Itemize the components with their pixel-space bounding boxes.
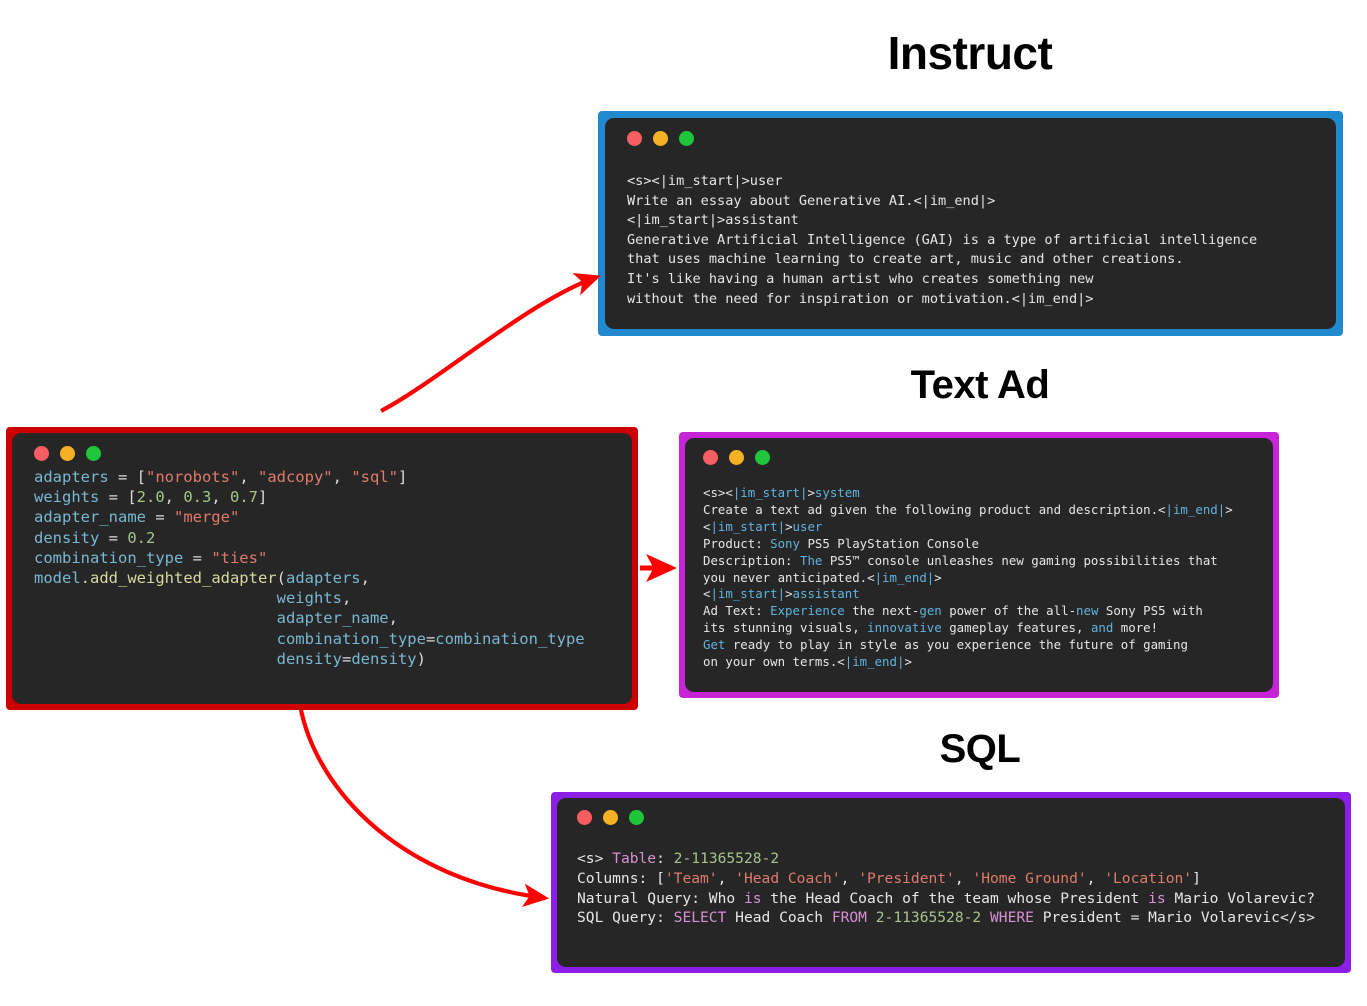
heading-sql: SQL	[840, 727, 1120, 772]
maximize-dot-icon[interactable]	[679, 131, 694, 146]
arrow-merge-to-instruct	[381, 277, 597, 411]
close-dot-icon[interactable]	[577, 810, 592, 825]
arrow-merge-to-sql	[301, 710, 545, 898]
sql-window: <s> Table: 2-11365528-2 Columns: ['Team'…	[551, 792, 1351, 973]
close-dot-icon[interactable]	[703, 450, 718, 465]
maximize-dot-icon[interactable]	[86, 446, 101, 461]
sql-text-block: <s> Table: 2-11365528-2 Columns: ['Team'…	[577, 849, 1333, 928]
minimize-dot-icon[interactable]	[60, 446, 75, 461]
textad-text-block: <s><|im_start|>system Create a text ad g…	[703, 485, 1261, 671]
instruct-text-block: <s><|im_start|>user Write an essay about…	[627, 172, 1320, 309]
window-controls	[703, 449, 1261, 465]
minimize-dot-icon[interactable]	[603, 810, 618, 825]
minimize-dot-icon[interactable]	[653, 131, 668, 146]
minimize-dot-icon[interactable]	[729, 450, 744, 465]
maximize-dot-icon[interactable]	[629, 810, 644, 825]
instruct-window: <s><|im_start|>user Write an essay about…	[598, 111, 1343, 336]
instruct-window-body: <s><|im_start|>user Write an essay about…	[605, 118, 1336, 329]
textad-window-body: <s><|im_start|>system Create a text ad g…	[685, 438, 1273, 692]
diagram-canvas: Instruct Text Ad SQL adapters = ["norobo…	[0, 0, 1367, 1006]
merge-window: adapters = ["norobots", "adcopy", "sql"]…	[6, 427, 638, 710]
window-controls	[34, 445, 616, 461]
sql-window-body: <s> Table: 2-11365528-2 Columns: ['Team'…	[557, 798, 1345, 967]
heading-text-ad: Text Ad	[790, 363, 1170, 408]
merge-code-block: adapters = ["norobots", "adcopy", "sql"]…	[34, 467, 616, 669]
window-controls	[577, 809, 1333, 825]
close-dot-icon[interactable]	[34, 446, 49, 461]
textad-window: <s><|im_start|>system Create a text ad g…	[679, 432, 1279, 698]
maximize-dot-icon[interactable]	[755, 450, 770, 465]
heading-instruct: Instruct	[760, 26, 1180, 80]
close-dot-icon[interactable]	[627, 131, 642, 146]
window-controls	[627, 130, 1320, 146]
merge-window-body: adapters = ["norobots", "adcopy", "sql"]…	[12, 433, 632, 704]
